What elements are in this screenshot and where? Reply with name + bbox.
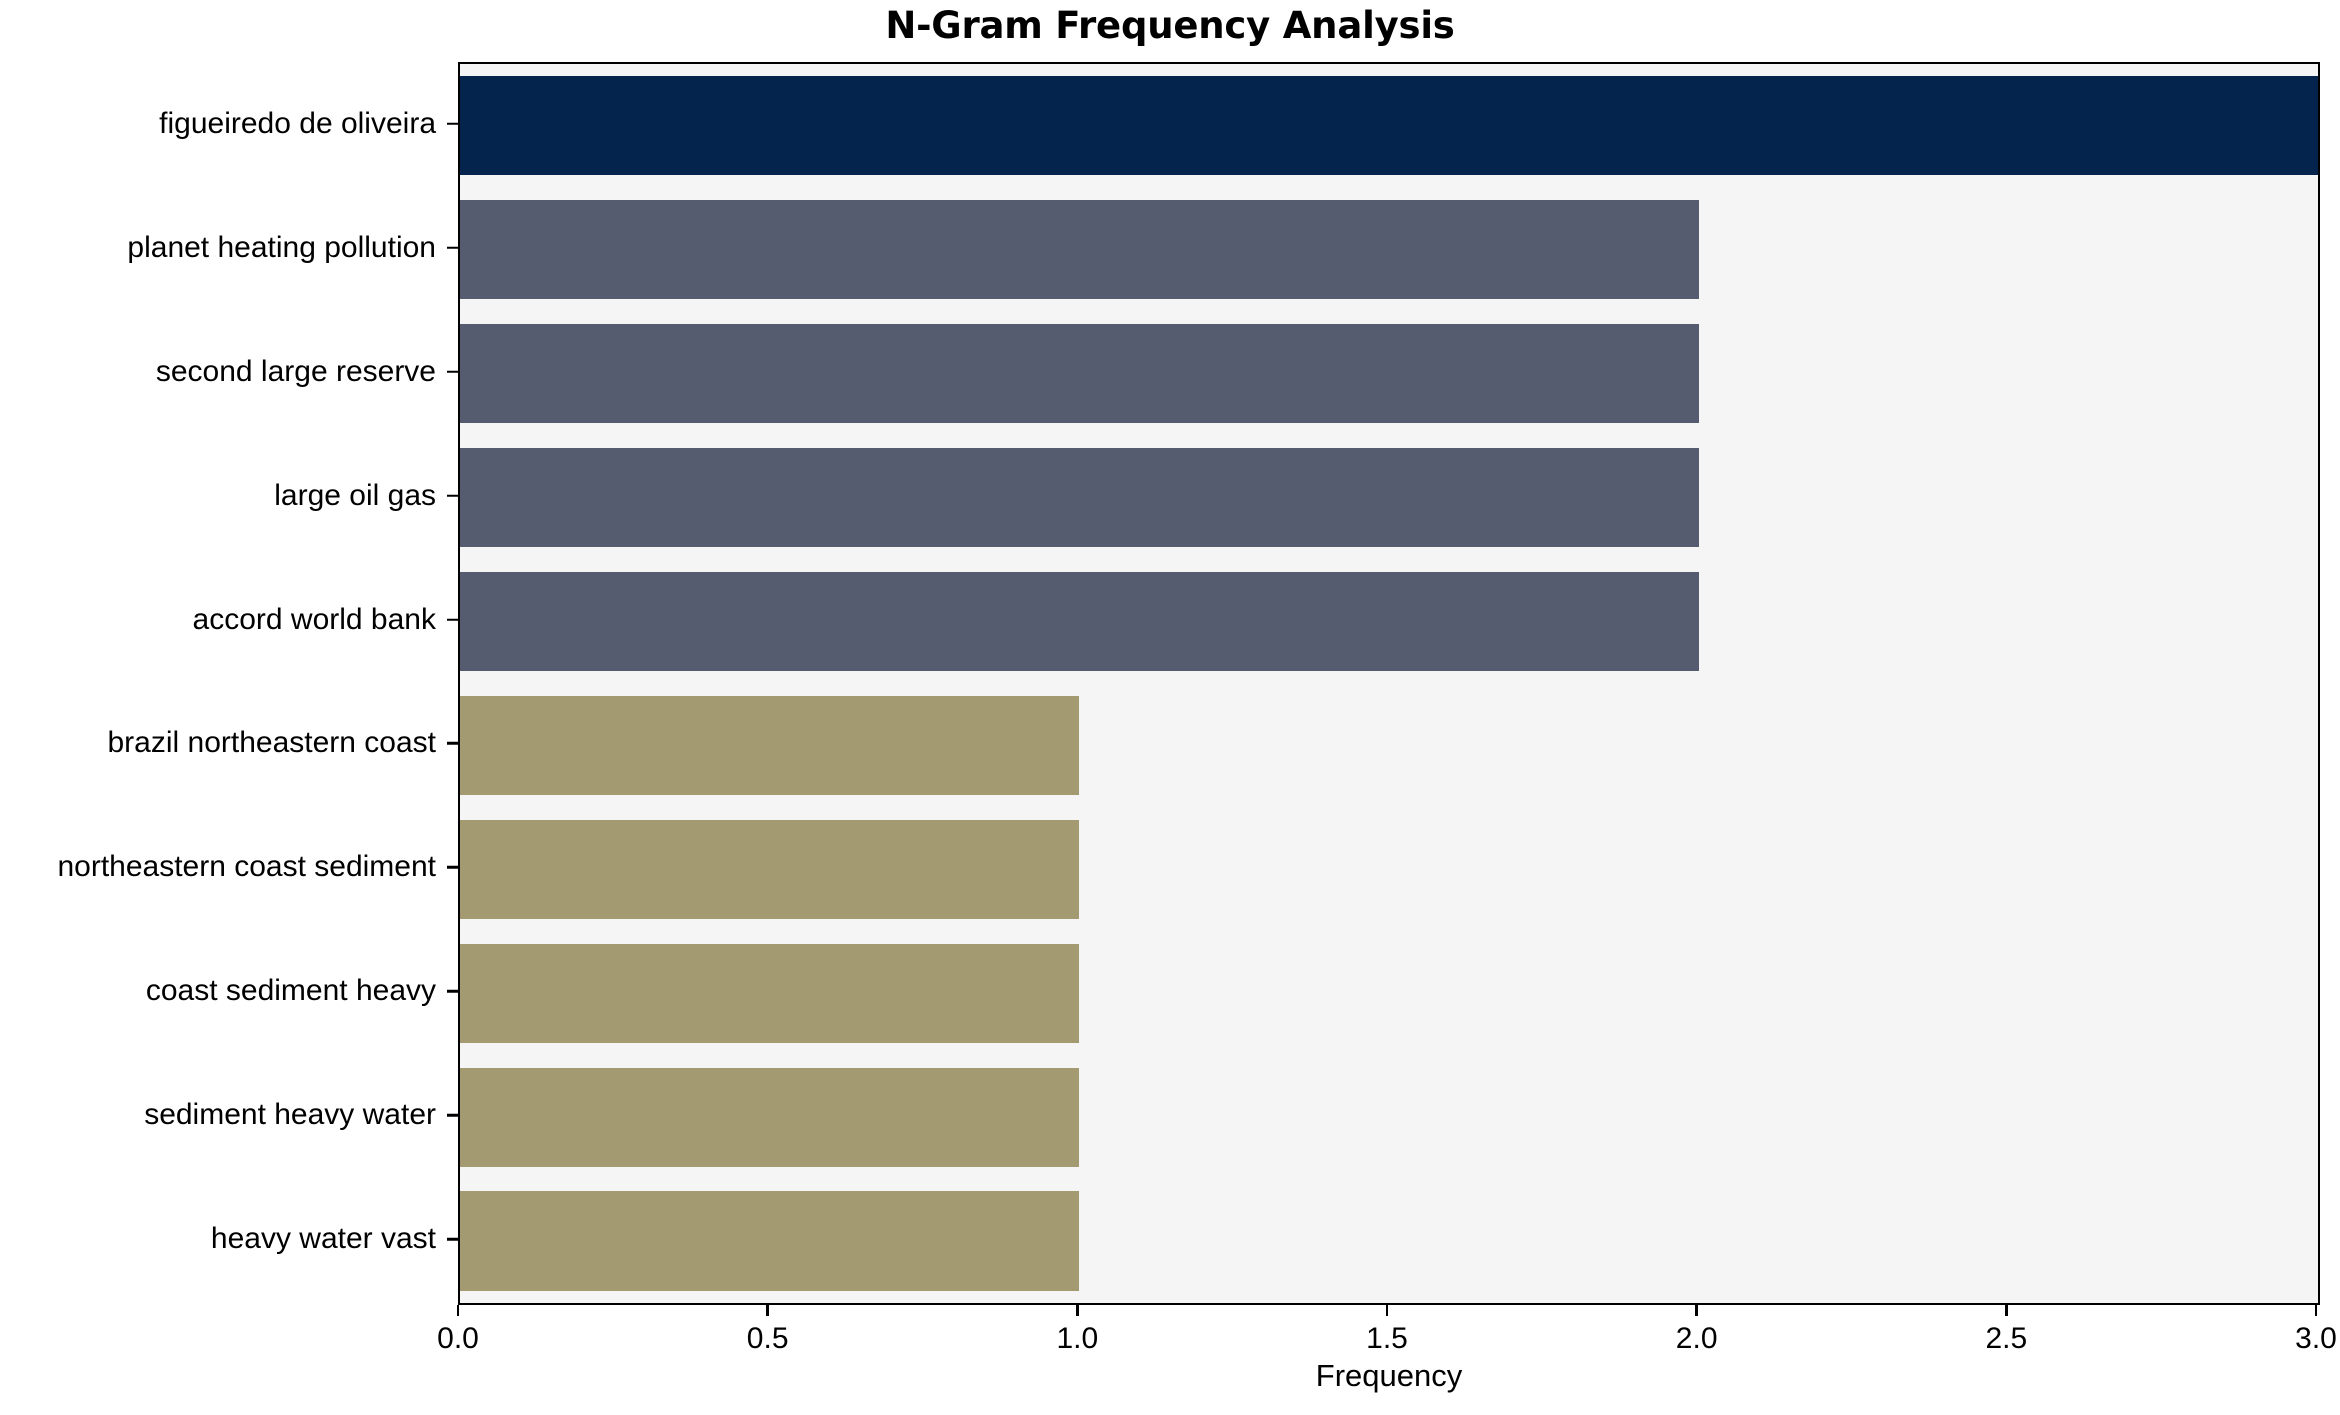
- y-tick-mark: [447, 990, 458, 993]
- y-tick-label: northeastern coast sediment: [57, 850, 436, 884]
- x-tick-label: 3.0: [2295, 1322, 2337, 1356]
- x-tick-label: 0.5: [747, 1322, 789, 1356]
- bar: [460, 448, 1699, 547]
- bar: [460, 76, 2318, 175]
- y-tick-mark: [447, 247, 458, 250]
- bar: [460, 572, 1699, 671]
- x-tick-label: 0.0: [437, 1322, 479, 1356]
- y-tick-label: second large reserve: [156, 355, 436, 389]
- y-tick-mark: [447, 866, 458, 869]
- bar: [460, 944, 1079, 1043]
- x-tick-mark: [766, 1305, 769, 1316]
- y-tick-label: large oil gas: [274, 479, 436, 513]
- bar: [460, 1191, 1079, 1290]
- y-tick-mark: [447, 494, 458, 497]
- x-tick-mark: [2315, 1305, 2318, 1316]
- chart-title: N-Gram Frequency Analysis: [0, 4, 2340, 47]
- y-tick-label: heavy water vast: [211, 1222, 436, 1256]
- bar: [460, 696, 1079, 795]
- plot-area: [458, 62, 2320, 1305]
- y-tick-label: planet heating pollution: [127, 231, 436, 265]
- x-axis-title: Frequency: [458, 1358, 2320, 1394]
- y-tick-label: accord world bank: [193, 603, 436, 637]
- x-tick-label: 2.0: [1676, 1322, 1718, 1356]
- x-tick-label: 1.0: [1056, 1322, 1098, 1356]
- bar: [460, 1068, 1079, 1167]
- x-tick-mark: [1695, 1305, 1698, 1316]
- y-tick-mark: [447, 123, 458, 126]
- x-tick-label: 1.5: [1366, 1322, 1408, 1356]
- y-tick-label: sediment heavy water: [144, 1098, 436, 1132]
- y-axis-tick-labels: figueiredo de oliveiraplanet heating pol…: [0, 62, 458, 1305]
- y-tick-mark: [447, 1238, 458, 1241]
- y-tick-label: figueiredo de oliveira: [159, 107, 436, 141]
- x-tick-mark: [2005, 1305, 2008, 1316]
- chart-figure: N-Gram Frequency Analysis figueiredo de …: [0, 0, 2340, 1414]
- bar: [460, 324, 1699, 423]
- y-tick-mark: [447, 742, 458, 745]
- x-tick-label: 2.5: [1985, 1322, 2027, 1356]
- y-tick-mark: [447, 1114, 458, 1117]
- x-tick-mark: [1386, 1305, 1389, 1316]
- x-tick-mark: [457, 1305, 460, 1316]
- y-tick-label: coast sediment heavy: [146, 974, 436, 1008]
- bar: [460, 200, 1699, 299]
- y-tick-mark: [447, 618, 458, 621]
- y-tick-label: brazil northeastern coast: [107, 726, 436, 760]
- bar: [460, 820, 1079, 919]
- bars-layer: [460, 64, 2318, 1303]
- x-tick-mark: [1076, 1305, 1079, 1316]
- y-tick-mark: [447, 371, 458, 374]
